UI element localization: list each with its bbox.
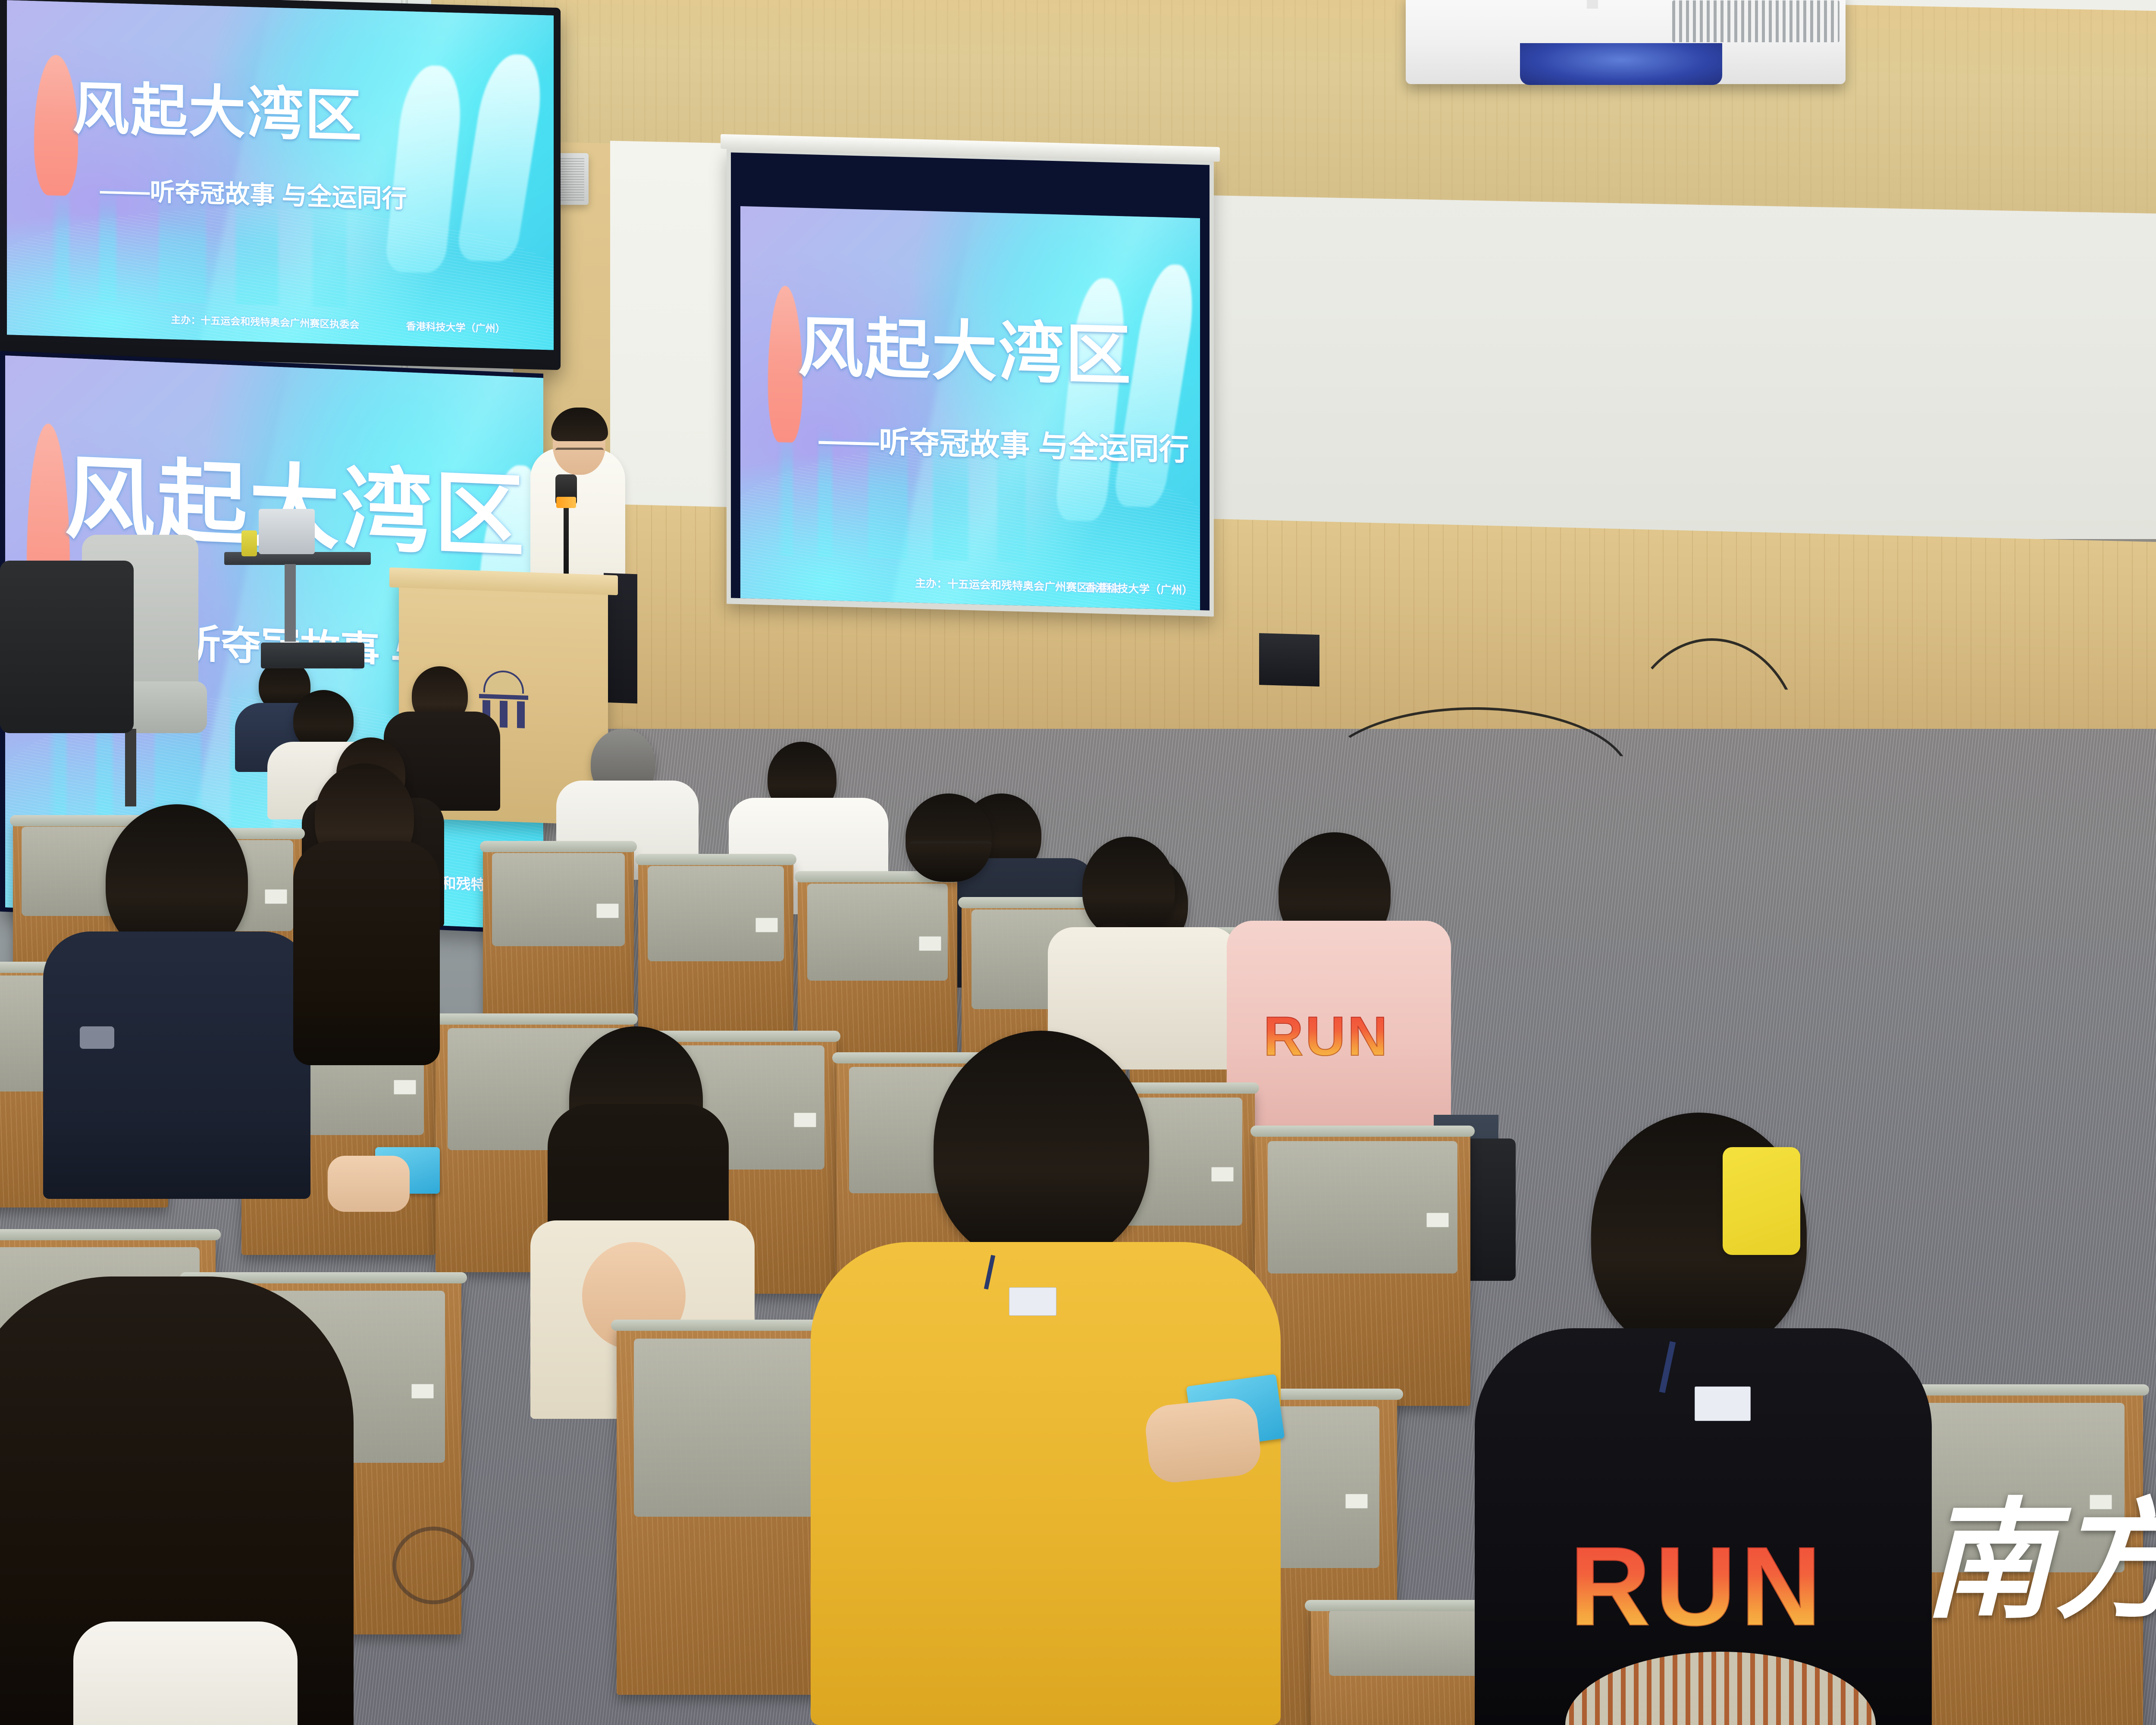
lecture-hall-photo: 风起大湾区 ——听夺冠故事 与全运同行 主办：十五运会和残特奥会广州赛区执委会 … [0, 0, 2156, 1725]
attendee-hand [328, 1156, 410, 1212]
run-logo-text: RUN [1570, 1522, 1826, 1651]
slide-footer-cohost: 香港科技大学（广州） [406, 318, 505, 335]
crest-bar [479, 694, 528, 700]
ceiling-projector-main [1406, 0, 1846, 84]
projector-vent [1672, 0, 1839, 42]
attendee-head [293, 690, 354, 750]
seat-number-tag [1426, 1213, 1449, 1227]
badge [1009, 1287, 1056, 1316]
seat-number-tag [1345, 1494, 1368, 1509]
av-trolley-post [285, 564, 296, 642]
monitor-icon [259, 509, 315, 554]
office-chair-dark[interactable] [0, 561, 134, 733]
seat[interactable] [1255, 1130, 1470, 1406]
glasses-icon [555, 448, 604, 459]
slide-footer-cohost: 香港科技大学（广州） [1085, 579, 1193, 598]
projection-screen-left[interactable]: 风起大湾区 ——听夺冠故事 与全运同行 主办：十五运会和残特奥会广州赛区执委会 … [727, 149, 1214, 617]
seat-number-tag [919, 936, 941, 951]
seat[interactable] [483, 845, 634, 1039]
seat-number-tag [394, 1080, 416, 1095]
attendee-hand [1143, 1396, 1263, 1485]
attendee-foreground-torso [73, 1621, 298, 1725]
attendee-ponytail-head [1082, 837, 1175, 938]
badge [1695, 1386, 1751, 1421]
seat-number-tag [1211, 1167, 1234, 1182]
seat[interactable] [638, 858, 793, 1057]
seat-number-tag [411, 1384, 434, 1399]
flat-panel-tv-center[interactable]: 风起大湾区 ——听夺冠故事 与全运同行 主办：十五运会和残特奥会广州赛区执委会 … [0, 0, 561, 370]
crest-dome [483, 670, 524, 693]
microphone-flag [556, 497, 576, 508]
beverage-can-icon [241, 530, 257, 556]
slide-artwork: 风起大湾区 ——听夺冠故事 与全运同行 主办：十五运会和残特奥会广州赛区执委会 … [740, 206, 1200, 610]
seat-number-tag [755, 918, 778, 932]
attendee-long-hair [293, 841, 440, 1065]
glasses-icon [392, 1527, 474, 1604]
run-logo-text: RUN [1263, 1005, 1390, 1068]
seat-number-tag [596, 903, 619, 918]
tv-wall-bracket [1259, 633, 1319, 687]
hair-clip-icon [1723, 1147, 1800, 1255]
attendee-glasses-man-head [906, 793, 992, 882]
office-chair-post [125, 729, 136, 806]
glasses-icon [910, 841, 992, 851]
crest-column [517, 701, 525, 728]
projector-drop-pole [1587, 0, 1598, 9]
seat-number-tag [2090, 1495, 2112, 1509]
slide-artwork: 风起大湾区 ——听夺冠故事 与全运同行 主办：十五运会和残特奥会广州赛区执委会 … [7, 0, 554, 350]
slide-title: 风起大湾区 [798, 294, 1132, 397]
av-trolley-shelf [261, 643, 364, 668]
shirt-logo [80, 1026, 114, 1049]
projector-lens [1520, 43, 1722, 85]
attendee-front-left-navy-torso [43, 931, 310, 1199]
crest-column [500, 701, 508, 728]
seat-number-tag [794, 1113, 816, 1127]
slide-title: 风起大湾区 [72, 62, 363, 153]
attendee-yellow-tee-head [934, 1031, 1149, 1264]
seat-number-tag [265, 889, 287, 904]
